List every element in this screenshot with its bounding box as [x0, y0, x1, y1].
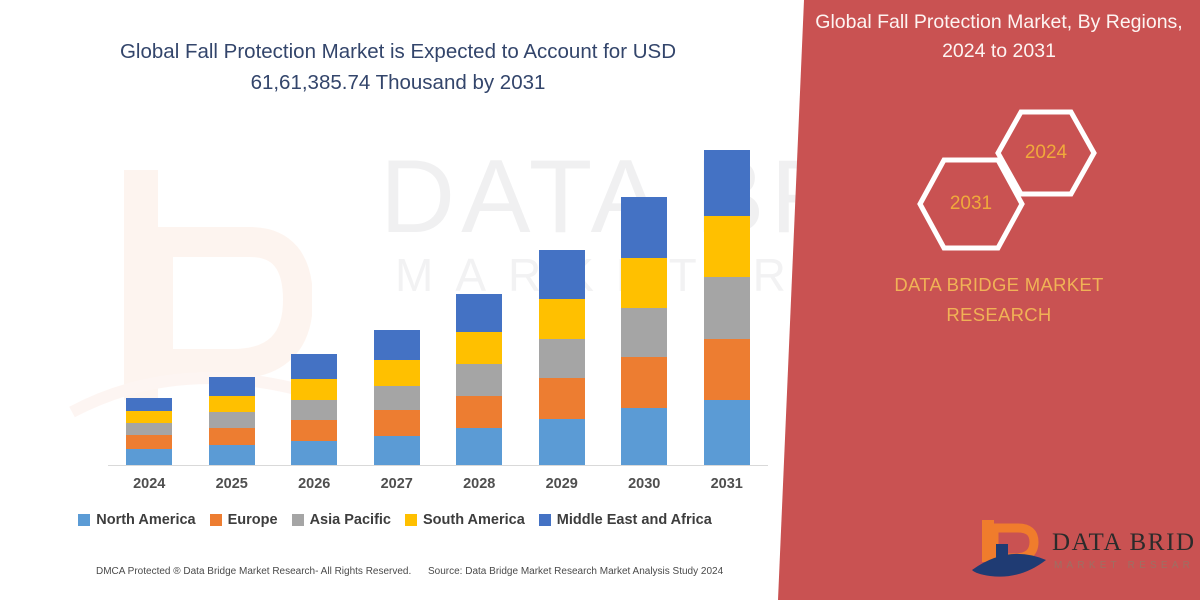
- segment-2027-south-america: [374, 360, 420, 385]
- bar-2030: [621, 197, 667, 465]
- segment-2030-europe: [621, 357, 667, 407]
- legend-item-europe[interactable]: Europe: [210, 512, 278, 528]
- legend-label: Europe: [228, 512, 278, 528]
- data-bridge-logo-icon: DATA BRIDGE MARKET RESEARCH: [968, 514, 1193, 584]
- brand-name: DATA BRIDGE MARKET RESEARCH: [814, 270, 1184, 330]
- segment-2028-south-america: [456, 332, 502, 364]
- segment-2024-asia-pacific: [126, 423, 172, 435]
- legend-label: North America: [96, 512, 195, 528]
- stacked-bar-group: [108, 150, 768, 465]
- segment-2025-asia-pacific: [209, 412, 255, 428]
- segment-2031-south-america: [704, 216, 750, 276]
- x-label-2030: 2030: [604, 476, 684, 492]
- bar-2027: [374, 330, 420, 465]
- footer-source: Source: Data Bridge Market Research Mark…: [428, 566, 723, 577]
- segment-2029-europe: [539, 378, 585, 418]
- segment-2029-middle-east-and-africa: [539, 250, 585, 299]
- segment-2025-middle-east-and-africa: [209, 377, 255, 395]
- brand-line-2: RESEARCH: [946, 304, 1051, 325]
- segment-2029-asia-pacific: [539, 339, 585, 378]
- footer: DMCA Protected ® Data Bridge Market Rese…: [0, 566, 790, 586]
- page-title: Global Fall Protection Market is Expecte…: [88, 36, 708, 98]
- legend-item-north-america[interactable]: North America: [78, 512, 195, 528]
- segment-2028-north-america: [456, 428, 502, 465]
- segment-2031-north-america: [704, 400, 750, 465]
- x-label-2024: 2024: [109, 476, 189, 492]
- segment-2027-europe: [374, 410, 420, 436]
- segment-2030-north-america: [621, 408, 667, 465]
- x-label-2029: 2029: [522, 476, 602, 492]
- legend-swatch: [539, 514, 551, 526]
- infographic-canvas: DATA BRIDGE MARKET RESEARCH Global Fall …: [0, 0, 1200, 600]
- segment-2024-north-america: [126, 449, 172, 465]
- right-panel-title: Global Fall Protection Market, By Region…: [814, 8, 1184, 66]
- bar-2029: [539, 250, 585, 465]
- legend-swatch: [78, 514, 90, 526]
- segment-2030-asia-pacific: [621, 308, 667, 357]
- segment-2026-middle-east-and-africa: [291, 354, 337, 379]
- svg-text:MARKET RESEARCH: MARKET RESEARCH: [1054, 560, 1193, 571]
- legend-swatch: [210, 514, 222, 526]
- x-label-2031: 2031: [687, 476, 767, 492]
- legend-label: Middle East and Africa: [557, 512, 712, 528]
- x-label-2025: 2025: [192, 476, 272, 492]
- svg-text:DATA BRIDGE: DATA BRIDGE: [1052, 529, 1193, 556]
- legend-swatch: [292, 514, 304, 526]
- x-label-2026: 2026: [274, 476, 354, 492]
- bar-2028: [456, 294, 502, 465]
- legend-label: Asia Pacific: [310, 512, 391, 528]
- brand-line-1: DATA BRIDGE MARKET: [894, 274, 1103, 295]
- hexagon-group: 2031 2024: [898, 108, 1128, 228]
- segment-2026-north-america: [291, 441, 337, 465]
- hexagon-2031-label: 2031: [950, 193, 992, 215]
- segment-2029-south-america: [539, 299, 585, 339]
- legend-item-south-america[interactable]: South America: [405, 512, 525, 528]
- x-label-2027: 2027: [357, 476, 437, 492]
- segment-2030-middle-east-and-africa: [621, 197, 667, 257]
- segment-2025-europe: [209, 428, 255, 445]
- x-axis-labels: 20242025202620272028202920302031: [108, 476, 768, 500]
- segment-2027-north-america: [374, 436, 420, 465]
- chart-legend: North AmericaEuropeAsia PacificSouth Ame…: [0, 512, 790, 528]
- bar-2026: [291, 354, 337, 465]
- bar-2031: [704, 150, 750, 465]
- hexagon-2024-label: 2024: [1025, 142, 1067, 164]
- right-panel: Global Fall Protection Market, By Region…: [778, 0, 1200, 600]
- segment-2024-south-america: [126, 411, 172, 423]
- chart-baseline: [108, 465, 768, 466]
- segment-2030-south-america: [621, 258, 667, 308]
- segment-2025-south-america: [209, 396, 255, 412]
- segment-2028-asia-pacific: [456, 364, 502, 395]
- footer-copyright: DMCA Protected ® Data Bridge Market Rese…: [96, 566, 411, 577]
- legend-item-asia-pacific[interactable]: Asia Pacific: [292, 512, 391, 528]
- segment-2031-europe: [704, 339, 750, 399]
- segment-2031-asia-pacific: [704, 277, 750, 339]
- legend-swatch: [405, 514, 417, 526]
- bar-2024: [126, 398, 172, 465]
- hexagon-2024: 2024: [994, 108, 1098, 198]
- segment-2026-asia-pacific: [291, 400, 337, 420]
- company-logo: DATA BRIDGE MARKET RESEARCH: [968, 514, 1193, 584]
- segment-2031-middle-east-and-africa: [704, 150, 750, 216]
- segment-2025-north-america: [209, 445, 255, 465]
- legend-item-middle-east-and-africa[interactable]: Middle East and Africa: [539, 512, 712, 528]
- chart-region: Global Fall Protection Market is Expecte…: [0, 0, 790, 600]
- segment-2028-europe: [456, 396, 502, 428]
- segment-2027-middle-east-and-africa: [374, 330, 420, 360]
- x-label-2028: 2028: [439, 476, 519, 492]
- segment-2028-middle-east-and-africa: [456, 294, 502, 332]
- segment-2029-north-america: [539, 419, 585, 465]
- legend-label: South America: [423, 512, 525, 528]
- segment-2026-south-america: [291, 379, 337, 399]
- bar-2025: [209, 377, 255, 465]
- segment-2024-middle-east-and-africa: [126, 398, 172, 411]
- segment-2027-asia-pacific: [374, 386, 420, 410]
- segment-2026-europe: [291, 420, 337, 441]
- segment-2024-europe: [126, 435, 172, 449]
